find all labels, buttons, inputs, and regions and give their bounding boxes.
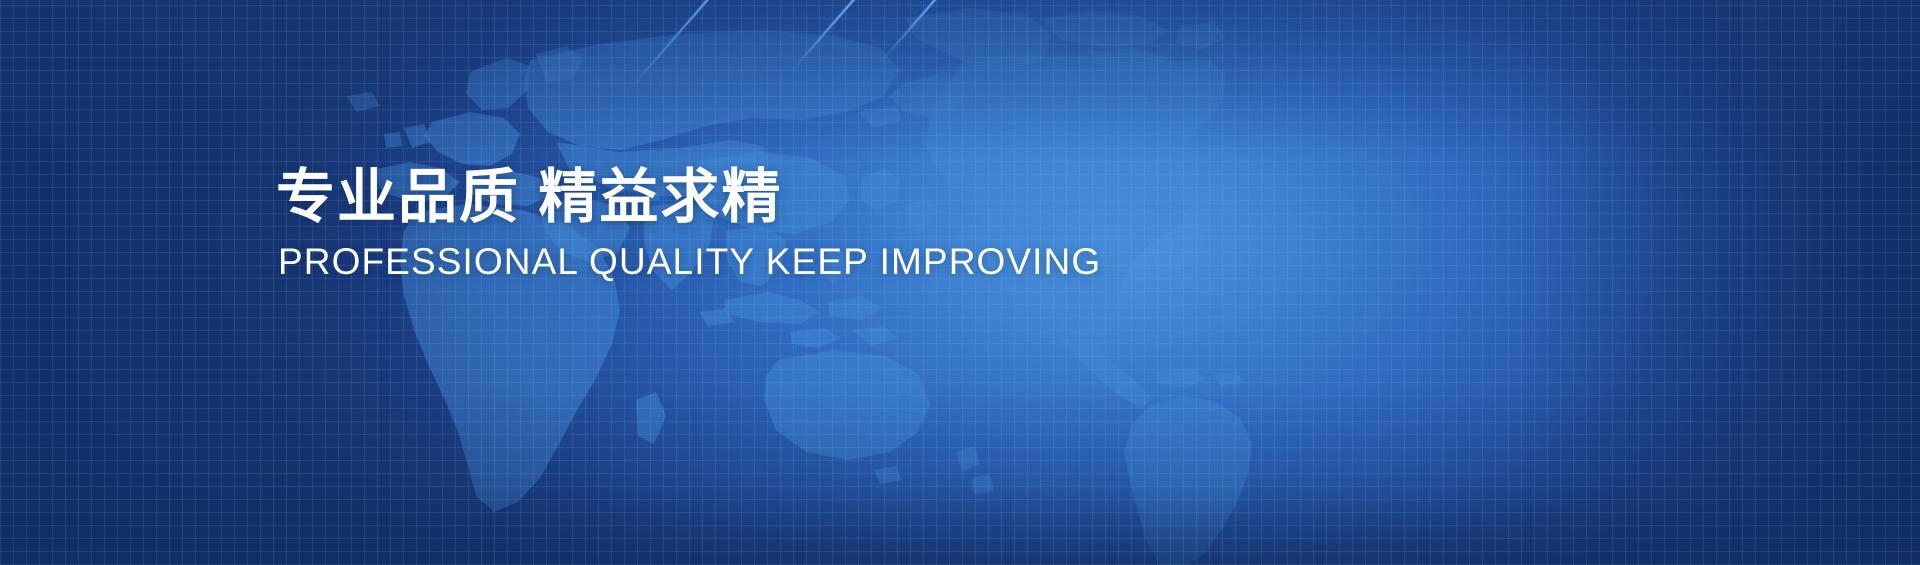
hero-banner: 专业品质 精益求精 PROFESSIONAL QUALITY KEEP IMPR… — [0, 0, 1920, 565]
headline-chinese: 专业品质 精益求精 — [276, 164, 1101, 230]
headline-english: PROFESSIONAL QUALITY KEEP IMPROVING — [278, 242, 1101, 283]
banner-text-block: 专业品质 精益求精 PROFESSIONAL QUALITY KEEP IMPR… — [276, 164, 1101, 283]
